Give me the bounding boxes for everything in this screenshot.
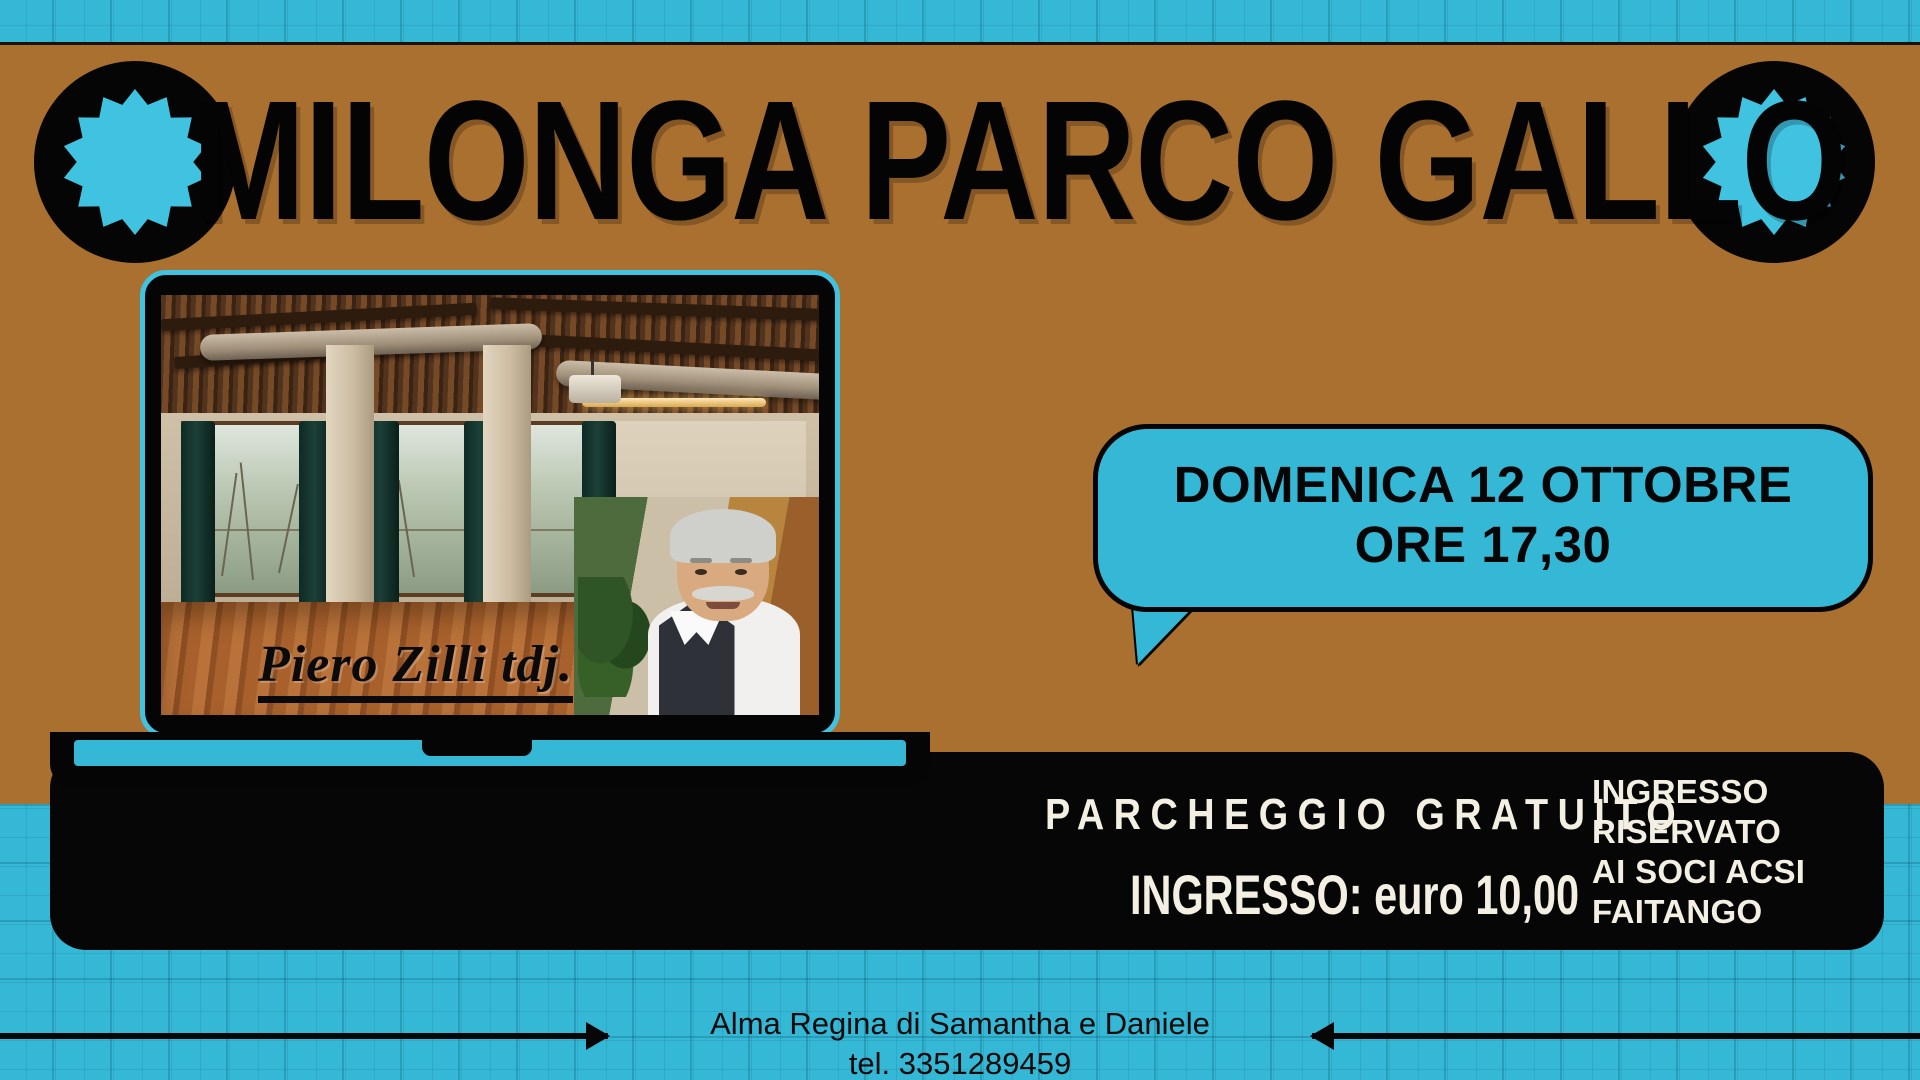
members-line-1: INGRESSO (1592, 772, 1805, 812)
tree-branch (278, 484, 299, 573)
price-label: INGRESSO: euro 10,00 (1130, 862, 1579, 927)
laptop-notch (422, 740, 532, 756)
plant (578, 577, 654, 697)
portrait-mouth (706, 602, 740, 609)
organizer-name: Alma Regina di Samantha e Daniele (0, 1004, 1920, 1044)
footer: Alma Regina di Samantha e Daniele tel. 3… (0, 1004, 1920, 1080)
projector (569, 375, 621, 403)
event-time: ORE 17,30 (1355, 512, 1612, 578)
dj-signature: Piero Zilli tdj. (258, 635, 573, 703)
organizer-phone: tel. 3351289459 (0, 1044, 1920, 1080)
dj-portrait (574, 497, 819, 715)
speech-bubble-tail (1133, 606, 1194, 664)
curtain (181, 421, 215, 606)
tree-branch (221, 473, 238, 577)
members-notice: INGRESSO RISERVATO AI SOCI ACSI FAITANGO (1592, 772, 1805, 932)
portrait-eye (695, 569, 707, 575)
tree-branch (240, 463, 254, 580)
poster-title: MILONGA PARCO GALLO (192, 86, 1728, 236)
date-speech-bubble: DOMENICA 12 OTTOBRE ORE 17,30 (1093, 424, 1873, 612)
portrait-eyebrow (730, 558, 752, 563)
event-date: DOMENICA 12 OTTOBRE (1174, 458, 1793, 512)
tree-branch (398, 480, 415, 577)
portrait-mustache (692, 586, 754, 601)
star-shape (62, 89, 208, 235)
members-line-3: AI SOCI ACSI (1592, 852, 1805, 892)
portrait-eyebrow (690, 558, 712, 563)
members-line-2: RISERVATO (1592, 812, 1805, 852)
portrait-hair (670, 509, 776, 563)
members-line-4: FAITANGO (1592, 892, 1805, 932)
portrait-eye (735, 569, 747, 575)
parking-label: PARCHEGGIO GRATUITO (1045, 790, 1685, 840)
laptop-mockup (140, 270, 840, 870)
poster-canvas: MILONGA PARCO GALLO (0, 0, 1920, 1080)
